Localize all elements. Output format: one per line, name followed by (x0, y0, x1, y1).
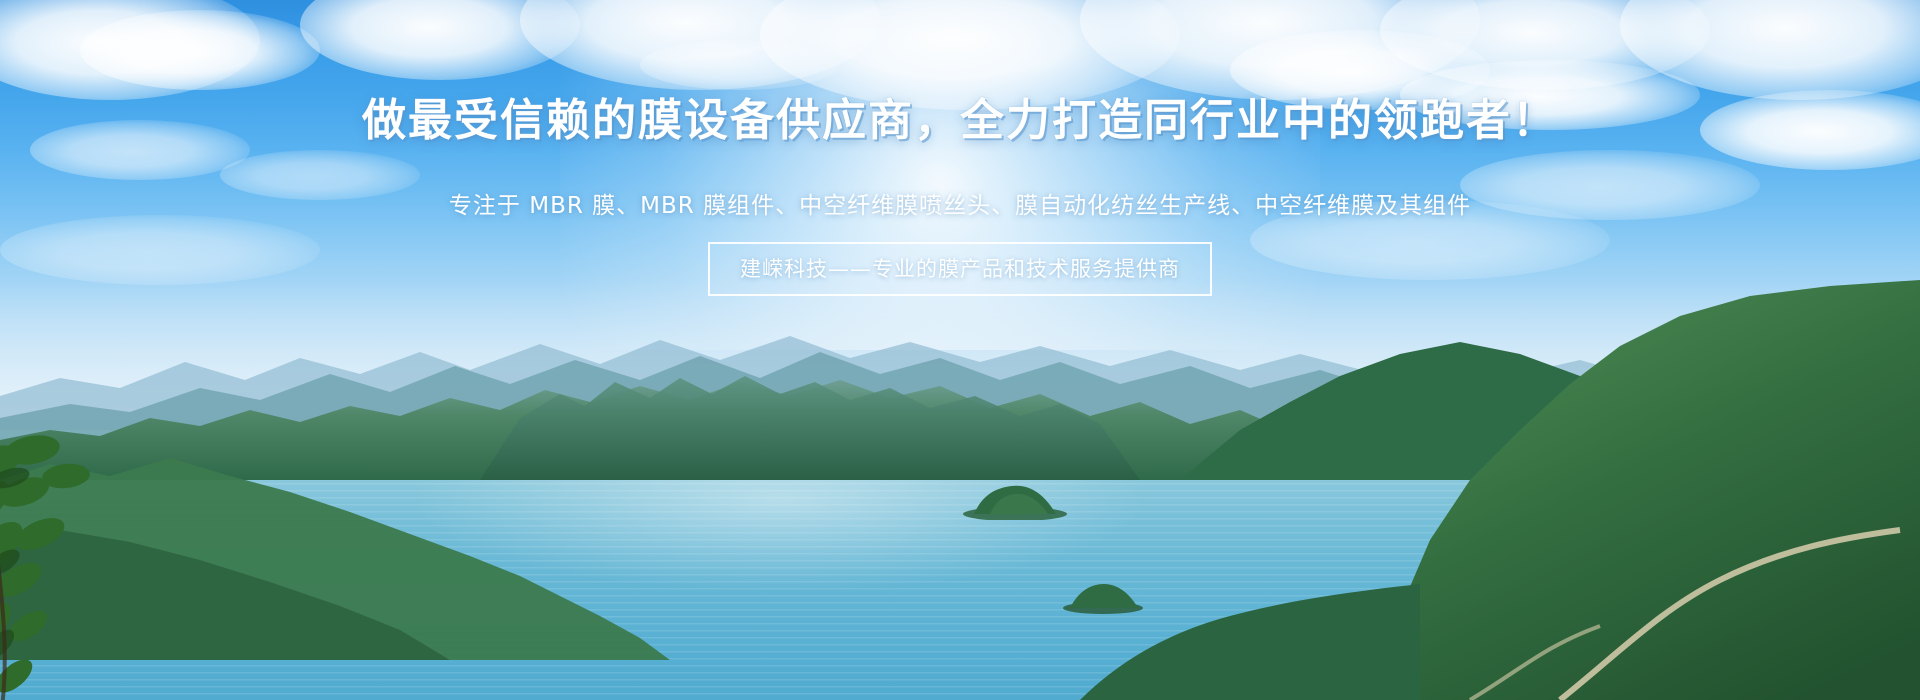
island-shore-right (1080, 540, 1420, 700)
hero-banner: 做最受信赖的膜设备供应商，全力打造同行业中的领跑者！ 专注于 MBR 膜、MBR… (0, 0, 1920, 700)
hero-tagline-box[interactable]: 建嵘科技——专业的膜产品和技术服务提供商 (708, 242, 1212, 296)
island-small (960, 472, 1070, 520)
